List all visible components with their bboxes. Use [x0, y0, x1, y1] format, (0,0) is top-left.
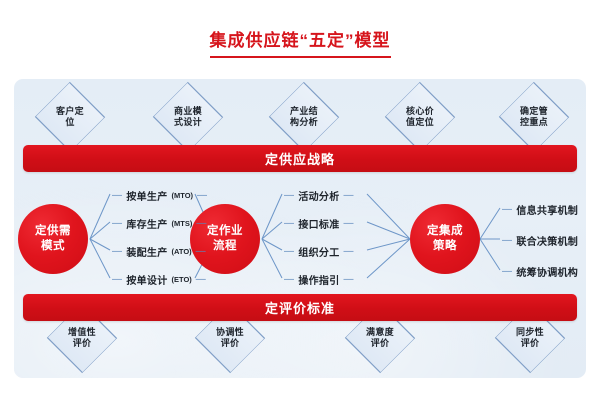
list-item-sub: (MTO): [172, 191, 194, 200]
dash-right: —: [196, 218, 206, 229]
dash-left: —: [284, 190, 294, 201]
list-item[interactable]: — 库存生产 (MTS) —: [112, 216, 207, 231]
diamond-bottom-4[interactable]: 同步性 评价: [482, 317, 578, 359]
dash-right: —: [344, 274, 354, 285]
circle-supply-demand-mode[interactable]: 定供需 模式: [18, 204, 88, 274]
list-item-label: 按单生产: [126, 188, 167, 203]
bar-evaluation-standard[interactable]: 定评价标准: [23, 294, 577, 321]
diamond-label: 客户定 位: [56, 106, 84, 128]
list-item-label: 活动分析: [298, 188, 339, 203]
page-title: 集成供应链“五定”模型: [0, 26, 600, 58]
dash-right: —: [197, 190, 207, 201]
list-item[interactable]: — 装配生产 (ATO) —: [112, 244, 206, 259]
diamond-top-4[interactable]: 核心价 值定位: [372, 96, 468, 138]
page-title-text: 集成供应链“五定”模型: [210, 26, 391, 58]
diamond-label: 协调性 评价: [216, 327, 244, 349]
list-item-label: 装配生产: [126, 244, 167, 259]
dash-left: —: [284, 274, 294, 285]
diamond-top-2[interactable]: 商业模 式设计: [140, 96, 236, 138]
diamond-label: 确定管 控重点: [520, 106, 548, 128]
dash-left: —: [112, 218, 122, 229]
list-item[interactable]: — 联合决策机制: [502, 233, 578, 248]
list-item-label: 联合决策机制: [516, 233, 578, 248]
diamond-top-5[interactable]: 确定管 控重点: [486, 96, 582, 138]
list-item-label: 组织分工: [298, 244, 339, 259]
list-item-label: 操作指引: [298, 272, 339, 287]
diamond-label: 满意度 评价: [366, 327, 394, 349]
dash-left: —: [502, 204, 512, 215]
list-item-label: 按单设计: [126, 272, 167, 287]
dash-left: —: [502, 235, 512, 246]
dash-left: —: [112, 274, 122, 285]
diamond-top-3[interactable]: 产业结 构分析: [256, 96, 352, 138]
list-item-sub: (MTS): [172, 219, 193, 228]
list-item[interactable]: — 接口标准 —: [284, 216, 354, 231]
dash-right: —: [344, 218, 354, 229]
diamond-bottom-2[interactable]: 协调性 评价: [182, 317, 278, 359]
model-panel: 客户定 位 商业模 式设计 产业结 构分析 核心价 值定位 确定管 控重点 增值…: [14, 79, 586, 378]
dash-left: —: [284, 246, 294, 257]
list-item[interactable]: — 按单生产 (MTO) —: [112, 188, 207, 203]
diamond-label: 商业模 式设计: [174, 106, 202, 128]
diagram-root: 集成供应链“五定”模型: [0, 0, 600, 400]
circle-integration-strategy[interactable]: 定集成 策略: [410, 204, 480, 274]
list-item-sub: (ATO): [172, 247, 192, 256]
dash-left: —: [284, 218, 294, 229]
list-item[interactable]: — 组织分工 —: [284, 244, 354, 259]
list-item-label: 统筹协调机构: [516, 264, 578, 279]
diamond-top-1[interactable]: 客户定 位: [22, 96, 118, 138]
list-item[interactable]: — 按单设计 (ETO) —: [112, 272, 206, 287]
dash-right: —: [344, 190, 354, 201]
list-item-label: 接口标准: [298, 216, 339, 231]
diamond-label: 产业结 构分析: [290, 106, 318, 128]
dash-right: —: [344, 246, 354, 257]
circle-operation-flow[interactable]: 定作业 流程: [190, 204, 260, 274]
list-item[interactable]: — 操作指引 —: [284, 272, 354, 287]
list-item[interactable]: — 信息共享机制: [502, 202, 578, 217]
dash-right: —: [196, 274, 206, 285]
diamond-bottom-3[interactable]: 满意度 评价: [332, 317, 428, 359]
list-item[interactable]: — 统筹协调机构: [502, 264, 578, 279]
list-item-sub: (ETO): [172, 275, 192, 284]
list-item-label: 库存生产: [126, 216, 167, 231]
diamond-bottom-1[interactable]: 增值性 评价: [34, 317, 130, 359]
list-item-label: 信息共享机制: [516, 202, 578, 217]
dash-left: —: [112, 190, 122, 201]
dash-left: —: [502, 266, 512, 277]
list-item[interactable]: — 活动分析 —: [284, 188, 354, 203]
diamond-label: 增值性 评价: [68, 327, 96, 349]
diamond-label: 同步性 评价: [516, 327, 544, 349]
diamond-label: 核心价 值定位: [406, 106, 434, 128]
dash-right: —: [196, 246, 206, 257]
bar-supply-strategy[interactable]: 定供应战略: [23, 145, 577, 172]
dash-left: —: [112, 246, 122, 257]
